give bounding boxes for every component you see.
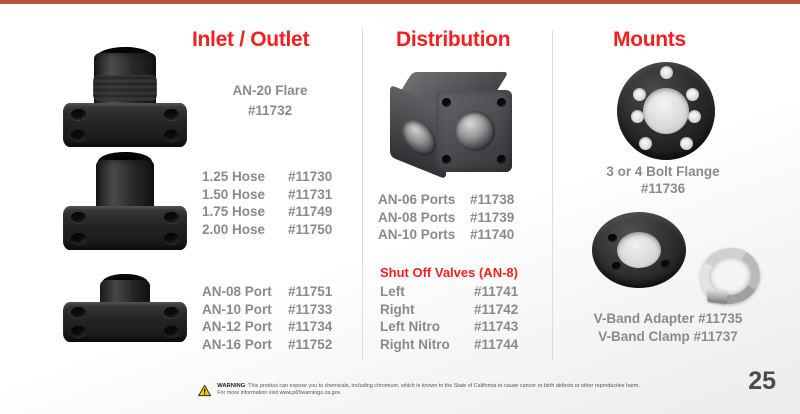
list-item: Right Nitro #11744 <box>380 336 544 354</box>
top-accent-bar <box>0 0 800 4</box>
hose-size: 1.25 Hose <box>202 168 288 186</box>
port-size: AN-10 Port <box>202 301 288 319</box>
valve-part: #11743 <box>474 318 544 336</box>
hose-size: 2.00 Hose <box>202 221 288 239</box>
product-image-vband-adapter <box>592 212 686 288</box>
list-item: AN-08 Ports #11739 <box>378 209 540 227</box>
hose-part: #11750 <box>288 221 358 239</box>
spec-an20-flare-name: AN-20 Flare <box>205 82 335 99</box>
valve-position: Right Nitro <box>380 336 474 354</box>
hose-size: 1.75 Hose <box>202 203 288 221</box>
port-size: AN-16 Port <box>202 336 288 354</box>
list-item: AN-08 Port #11751 <box>202 283 358 301</box>
list-item: AN-12 Port #11734 <box>202 318 358 336</box>
valve-part: #11744 <box>474 336 544 354</box>
list-item: Left #11741 <box>380 283 544 301</box>
list-item: AN-16 Port #11752 <box>202 336 358 354</box>
column-divider-2 <box>552 30 553 360</box>
prop65-warning: WARNING: This product can expose you to … <box>198 383 643 398</box>
product-image-bolt-flange <box>617 62 715 160</box>
list-item: 1.50 Hose #11731 <box>202 186 358 204</box>
list-item: AN-10 Port #11733 <box>202 301 358 319</box>
spec-an20-flare-part: #11732 <box>205 102 335 119</box>
page-number: 25 <box>748 367 776 396</box>
hose-part-list: 1.25 Hose #11730 1.50 Hose #11731 1.75 H… <box>202 168 358 238</box>
warning-triangle-icon <box>198 383 211 398</box>
column-divider-1 <box>362 30 363 360</box>
list-item: 1.75 Hose #11749 <box>202 203 358 221</box>
column-title-mounts: Mounts <box>613 28 686 52</box>
distribution-port-list: AN-06 Ports #11738 AN-08 Ports #11739 AN… <box>378 191 540 244</box>
list-item: 1.25 Hose #11730 <box>202 168 358 186</box>
port-size: AN-12 Port <box>202 318 288 336</box>
spec-flange-part: #11736 <box>578 180 748 197</box>
product-image-port-fitting <box>55 268 195 376</box>
catalog-page: Inlet / Outlet AN-20 Flare #11732 1.25 H… <box>0 0 800 414</box>
warning-body: : This product can expose you to chemica… <box>217 383 640 397</box>
list-item: 2.00 Hose #11750 <box>202 221 358 239</box>
dist-port-part: #11739 <box>470 209 540 227</box>
hose-size: 1.50 Hose <box>202 186 288 204</box>
hose-part: #11730 <box>288 168 358 186</box>
dist-port-size: AN-06 Ports <box>378 191 470 209</box>
product-image-hose-fitting <box>55 152 195 260</box>
valve-position: Left <box>380 283 474 301</box>
valve-position: Left Nitro <box>380 318 474 336</box>
port-part-list: AN-08 Port #11751 AN-10 Port #11733 AN-1… <box>202 283 358 353</box>
dist-port-size: AN-08 Ports <box>378 209 470 227</box>
port-part: #11733 <box>288 301 358 319</box>
hose-part: #11731 <box>288 186 358 204</box>
subsection-title-shut-off-valves: Shut Off Valves (AN-8) <box>380 265 518 280</box>
warning-label: WARNING <box>217 383 245 389</box>
shut-off-valve-list: Left #11741 Right #11742 Left Nitro #117… <box>380 283 544 353</box>
valve-position: Right <box>380 301 474 319</box>
port-part: #11734 <box>288 318 358 336</box>
spec-flange-name: 3 or 4 Bolt Flange <box>578 163 748 180</box>
dist-port-part: #11740 <box>470 226 540 244</box>
spec-vband-clamp: V-Band Clamp #11737 <box>568 328 768 345</box>
list-item: Left Nitro #11743 <box>380 318 544 336</box>
port-part: #11752 <box>288 336 358 354</box>
hose-part: #11749 <box>288 203 358 221</box>
product-image-vband-clamp <box>700 248 760 304</box>
list-item: AN-06 Ports #11738 <box>378 191 540 209</box>
list-item: AN-10 Ports #11740 <box>378 226 540 244</box>
valve-part: #11741 <box>474 283 544 301</box>
valve-part: #11742 <box>474 301 544 319</box>
product-image-an20-flare <box>55 45 195 153</box>
product-image-distribution-block <box>388 72 516 176</box>
spec-vband-adapter: V-Band Adapter #11735 <box>568 310 768 327</box>
dist-port-size: AN-10 Ports <box>378 226 470 244</box>
column-title-inlet-outlet: Inlet / Outlet <box>192 28 309 52</box>
list-item: Right #11742 <box>380 301 544 319</box>
port-part: #11751 <box>288 283 358 301</box>
column-title-distribution: Distribution <box>396 28 510 52</box>
port-size: AN-08 Port <box>202 283 288 301</box>
dist-port-part: #11738 <box>470 191 540 209</box>
